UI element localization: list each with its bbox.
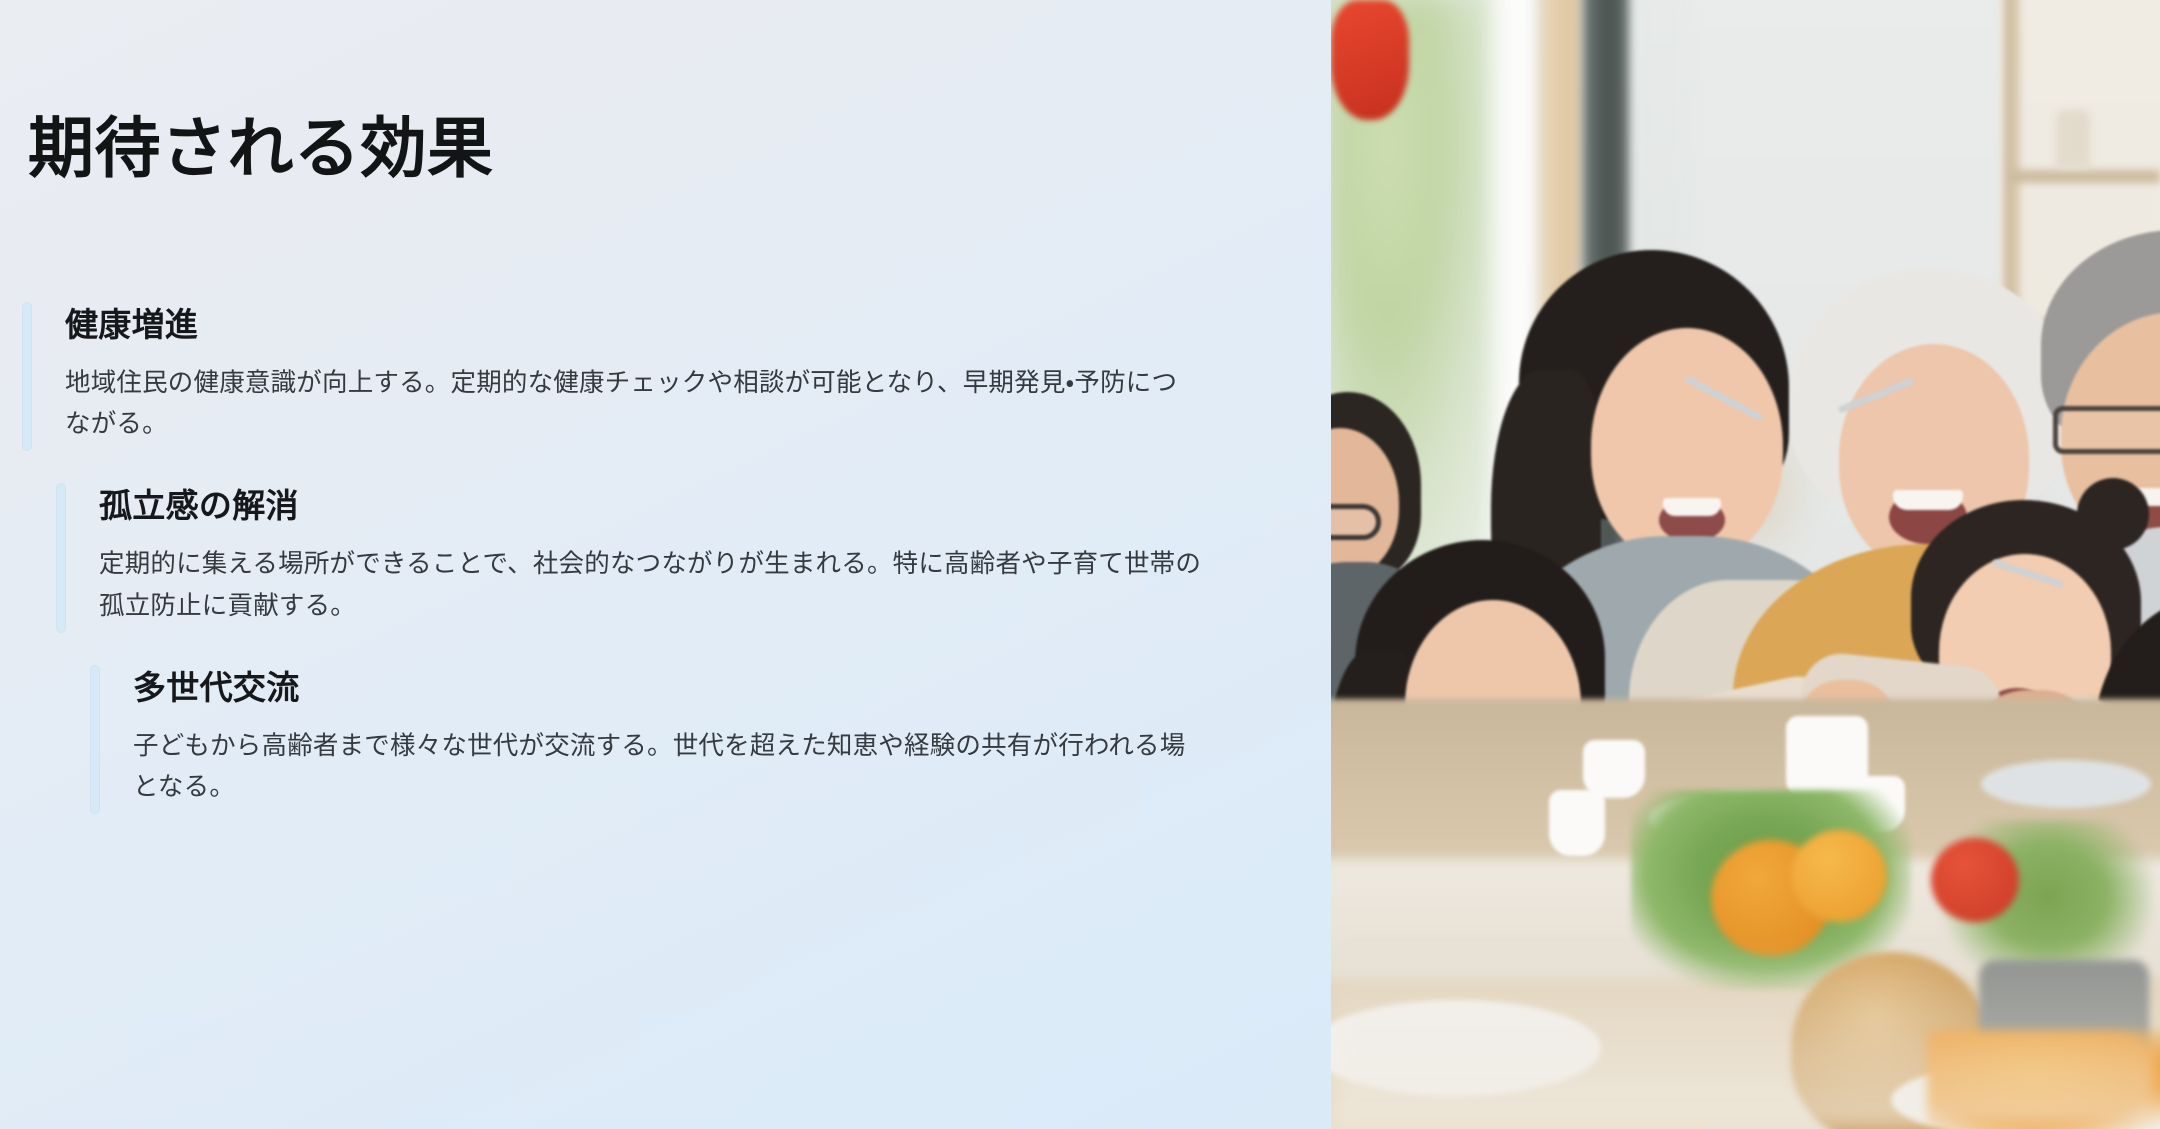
effect-item: 健康増進 地域住民の健康意識が向上する。定期的な健康チェックや相談が可能となり、… [22, 302, 1331, 451]
page-title: 期待される効果 [28, 108, 494, 189]
effect-description: 子どもから高齢者まで様々な世代が交流する。世代を超えた知恵や経験の共有が行われる… [133, 726, 1210, 809]
red-pepper [1331, 0, 1409, 120]
effect-heading: 孤立感の解消 [99, 485, 1206, 528]
effect-item: 多世代交流 子どもから高齢者まで様々な世代が交流する。世代を超えた知恵や経験の共… [90, 665, 1331, 814]
tomato [1931, 838, 2019, 922]
content-panel: 期待される効果 健康増進 地域住民の健康意識が向上する。定期的な健康チェックや相… [0, 0, 1331, 1129]
accent-bar-icon [22, 302, 32, 451]
slide-root: 期待される効果 健康増進 地域住民の健康意識が向上する。定期的な健康チェックや相… [0, 0, 2160, 1129]
effect-heading: 多世代交流 [133, 667, 1210, 710]
effect-description: 地域住民の健康意識が向上する。定期的な健康チェックや相談が可能となり、早期発見・… [65, 363, 1197, 446]
orange-fruit [1791, 830, 1887, 922]
accent-bar-icon [56, 483, 66, 632]
family-dining-photo [1331, 0, 2160, 1129]
teeth [1663, 498, 1721, 516]
effect-body: 健康増進 地域住民の健康意識が向上する。定期的な健康チェックや相談が可能となり、… [32, 302, 1197, 451]
photo-panel [1331, 0, 2160, 1129]
effect-description: 定期的に集える場所ができることで、社会的なつながりが生まれる。特に高齢者や子育て… [99, 544, 1206, 627]
effect-body: 多世代交流 子どもから高齢者まで様々な世代が交流する。世代を超えた知恵や経験の共… [100, 665, 1210, 814]
shelf-board [2010, 170, 2160, 183]
effect-body: 孤立感の解消 定期的に集える場所ができることで、社会的なつながりが生まれる。特に… [66, 483, 1206, 632]
foreground-bokeh [1331, 939, 2160, 1129]
cup [1549, 790, 1605, 856]
glasses-icon [2053, 406, 2160, 454]
shelf-object [2056, 110, 2090, 168]
accent-bar-icon [90, 665, 100, 814]
effect-heading: 健康増進 [65, 304, 1197, 347]
plate [1981, 760, 2151, 808]
glasses-icon [1331, 504, 1381, 540]
effect-item: 孤立感の解消 定期的に集える場所ができることで、社会的なつながりが生まれる。特に… [56, 483, 1331, 632]
effects-list: 健康増進 地域住民の健康意識が向上する。定期的な健康チェックや相談が可能となり、… [0, 302, 1331, 846]
